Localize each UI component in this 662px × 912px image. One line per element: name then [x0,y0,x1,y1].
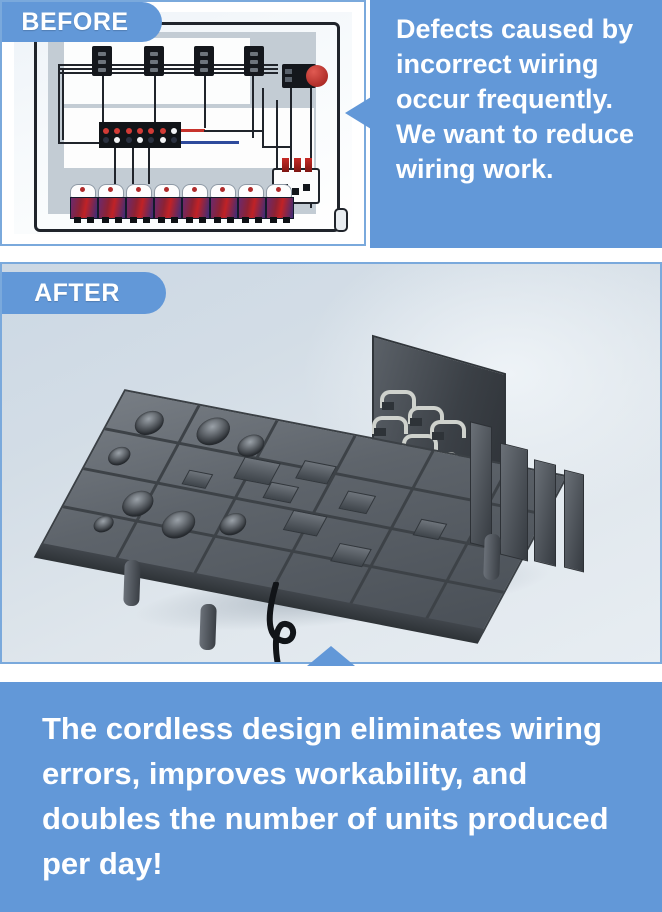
before-badge-label: BEFORE [2,2,148,42]
caption-text: The cordless design eliminates wiring er… [42,706,646,886]
terminal-cap [98,184,124,198]
drop-wire [132,148,134,184]
terminal-cap [238,184,264,198]
terminal-block [182,197,210,219]
left-arrow-icon [345,97,371,129]
drop-wire [252,76,254,138]
red-lead-wire [181,129,205,132]
terminal-connector [244,46,264,76]
bus-wire [58,142,104,144]
relay-led-row [103,128,177,134]
terminal-block [210,197,238,219]
before-diagram [14,12,352,234]
wire-hook-icon [430,420,464,438]
tray-fixture-block [338,491,376,515]
terminal-cap [154,184,180,198]
drop-wire [148,148,150,184]
tray-boss-hole [156,508,201,541]
terminal-cap [70,184,96,198]
route-wire [290,88,292,168]
terminal-block [238,197,266,219]
estop-pin [285,69,292,74]
jig-fin [564,470,584,573]
jig-leg [483,534,501,581]
cable-end-plug [334,208,348,232]
caption-panel: The cordless design eliminates wiring er… [0,682,662,912]
before-and-callout-row: BEFORE Defects caused by incorrect wirin… [0,0,662,250]
bus-wire [62,68,64,140]
terminal-block [70,197,98,219]
estop-pin [285,77,292,82]
bus-wire [58,64,60,144]
socket-red-pin [294,158,301,172]
socket-red-pin [305,158,312,172]
emergency-stop-block [282,64,316,88]
socket-red-pin [282,158,289,172]
blue-lead-wire [181,141,239,144]
estop-knob-icon [306,65,328,87]
terminal-block [266,197,294,219]
route-wire [262,88,264,148]
terminal-block [98,197,126,219]
terminal-block [126,197,154,219]
drop-wire [102,76,104,124]
drop-wire [114,148,116,184]
jig-fin [534,459,556,566]
terminal-block [154,197,182,219]
molded-jig-photo [72,354,592,654]
up-arrow-icon [307,646,355,666]
before-panel: BEFORE [0,0,366,246]
route-wire [262,146,292,148]
relay-bar [99,122,181,148]
terminal-cap [266,184,292,198]
route-wire [276,100,278,172]
drop-wire [154,76,156,124]
tray-boss-hole [191,415,236,448]
terminal-connector [92,46,112,76]
terminal-cap [210,184,236,198]
before-badge: BEFORE [2,2,162,42]
callout-panel: Defects caused by incorrect wiring occur… [370,0,662,248]
lead-wire [204,130,264,132]
callout-text: Defects caused by incorrect wiring occur… [396,12,652,187]
tray-boss-hole [215,511,251,537]
jig-fin [470,421,492,548]
socket-hole [303,184,310,191]
drop-wire [204,76,206,128]
terminal-cap [182,184,208,198]
jig-fin [500,443,528,562]
after-badge-label: AFTER [2,272,152,314]
jig-leg [123,560,141,607]
terminal-cap [126,184,152,198]
after-badge: AFTER [2,272,166,314]
tray-rib [271,436,357,590]
tray-fixture-block [262,482,299,504]
relay-led-row [103,137,177,143]
tray-boss-hole [104,445,134,467]
terminal-connector [144,46,164,76]
jig-leg [199,604,217,651]
terminal-strip [70,184,298,222]
after-panel: AFTER [0,262,662,664]
terminal-connector [194,46,214,76]
wire-hook-icon [372,416,406,434]
tray-fixture-block [181,470,213,489]
